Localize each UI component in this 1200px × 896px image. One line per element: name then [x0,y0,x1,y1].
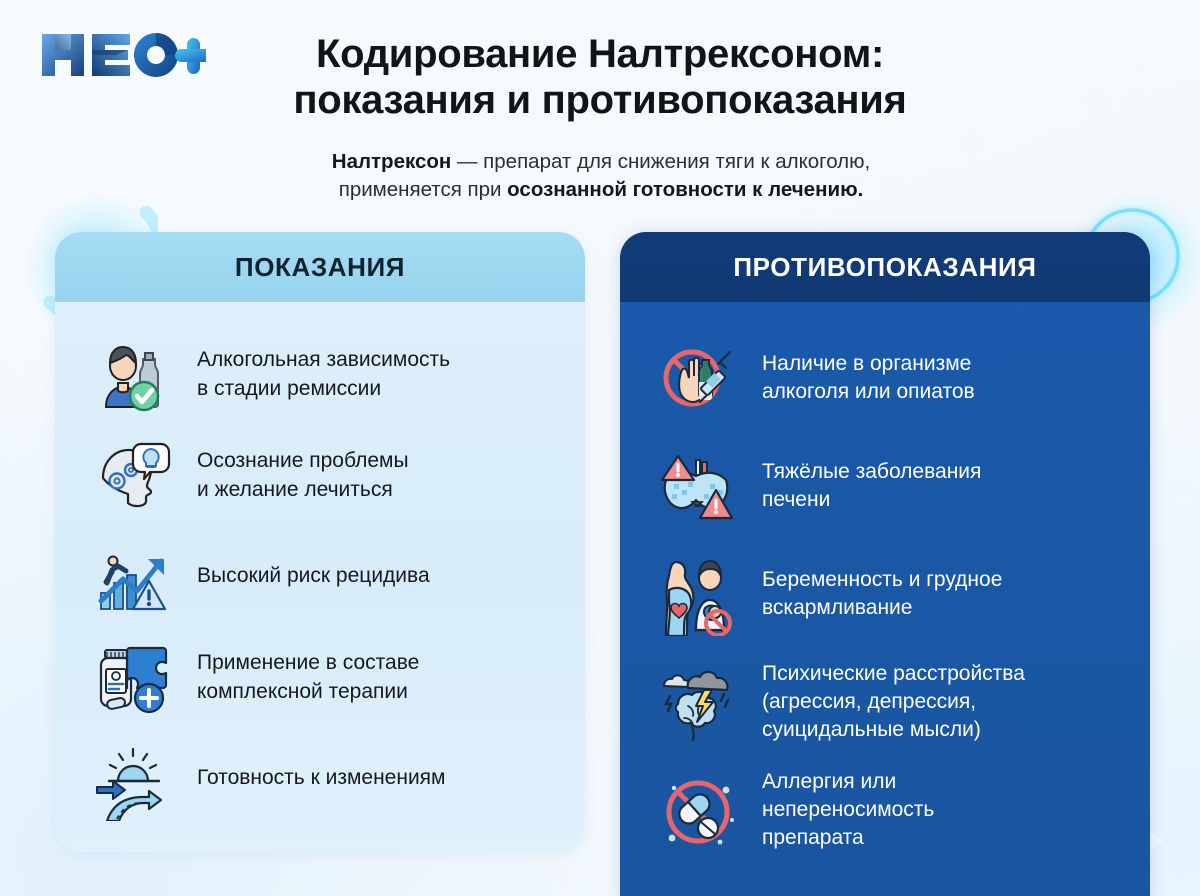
sunrise-road-arrow-icon [93,737,177,821]
contraindications-list: Наличие в организме алкоголя или опиатов [620,302,1150,864]
indications-card-title: ПОКАЗАНИЯ [235,252,405,283]
list-item-text: Беременность и грудное вскармливание [762,566,1002,622]
list-item-line2: комплексной терапии [197,678,419,706]
list-item-line1: Осознание проблемы [197,447,409,475]
growth-chart-warning-icon [93,535,177,619]
subtitle-line2-pre: применяется при [339,178,507,201]
infographic-page: Кодирование Налтрексоном: показания и пр… [0,0,1200,896]
neo-plus-logo [36,26,206,84]
list-item-line1: Наличие в организме [762,350,975,378]
subtitle-drug-name: Налтрексон [332,150,452,173]
list-item: Наличие в организме алкоголя или опиатов [658,324,1124,432]
list-item-text: Осознание проблемы и желание лечиться [197,447,409,503]
banned-pills-icon [658,768,742,852]
indications-card: ПОКАЗАНИЯ Ал [55,232,585,852]
liver-warning-icon-row: Тяжёлые заболевания печени [658,432,1124,540]
list-item: Психические расстройства (агрессия, депр… [658,648,1124,756]
list-item-line2: вскармливание [762,594,1002,622]
person-bottle-check-icon [93,333,177,417]
list-item: Применение в составе комплексной терапии [93,627,559,728]
subtitle-line2: применяется при осознанной готовности к … [230,176,972,204]
list-item-line1: Тяжёлые заболевания [762,458,981,486]
list-item: Алкогольная зависимость в стадии ремисси… [93,324,559,425]
contraindications-card-header: ПРОТИВОПОКАЗАНИЯ [620,232,1150,302]
list-item-text: Наличие в организме алкоголя или опиатов [762,350,975,406]
list-item-text: Психические расстройства (агрессия, депр… [762,660,1025,744]
list-item-text: Алкогольная зависимость в стадии ремисси… [197,346,450,402]
list-item-line2: печени [762,486,981,514]
list-item-line1: Высокий риск рецидива [197,562,430,590]
page-subtitle: Налтрексон — препарат для снижения тяги … [230,148,972,205]
list-item-line1: Аллергия или [762,768,934,796]
list-item-line3: суицидальные мысли) [762,716,1025,744]
list-item-line2: (агрессия, депрессия, [762,688,1025,716]
page-title: Кодирование Налтрексоном: показания и пр… [220,32,980,123]
list-item-line1: Готовность к изменениям [197,764,445,792]
list-item: Осознание проблемы и желание лечиться [93,425,559,526]
list-item-line2: в стадии ремиссии [197,375,450,403]
head-gears-lightbulb-icon [93,434,177,518]
list-item-line1: Психические расстройства [762,660,1025,688]
list-item: Аллергия или непереносимость препарата [658,756,1124,864]
list-item: Высокий риск рецидива [93,526,559,627]
pill-bottle-puzzle-cross-icon [93,636,177,720]
list-item-line1: Применение в составе [197,649,419,677]
list-item-text: Готовность к изменениям [197,764,445,792]
list-item-text: Аллергия или непереносимость препарата [762,768,934,852]
indications-card-header: ПОКАЗАНИЯ [55,232,585,302]
list-item-line1: Беременность и грудное [762,566,1002,594]
liver-warning-icon [658,444,742,528]
indications-list: Алкогольная зависимость в стадии ремисси… [55,302,585,829]
list-item-line1: Алкогольная зависимость [197,346,450,374]
list-item-text: Тяжёлые заболевания печени [762,458,981,514]
page-title-line1: Кодирование Налтрексоном: [220,32,980,78]
subtitle-line1-rest: — препарат для снижения тяги к алкоголю, [451,150,870,173]
brain-storm-cloud-icon [658,660,742,744]
contraindications-card: ПРОТИВОПОКАЗАНИЯ [620,232,1150,896]
list-item-line3: препарата [762,824,934,852]
list-item-line2: алкоголя или опиатов [762,378,975,406]
subtitle-line2-strong: осознанной готовности к лечению. [507,178,863,201]
list-item-text: Высокий риск рецидива [197,562,430,590]
list-item-line2: непереносимость [762,796,934,824]
subtitle-line1: Налтрексон — препарат для снижения тяги … [230,148,972,176]
page-title-line2: показания и противопоказания [220,78,980,124]
list-item: Готовность к изменениям [93,728,559,829]
pregnancy-breastfeeding-banned-icon [658,552,742,636]
list-item: Беременность и грудное вскармливание [658,540,1124,648]
list-item-line2: и желание лечиться [197,476,409,504]
contraindications-card-title: ПРОТИВОПОКАЗАНИЯ [733,252,1036,283]
stop-hand-bottle-syringe-icon [658,336,742,420]
list-item-text: Применение в составе комплексной терапии [197,649,419,705]
